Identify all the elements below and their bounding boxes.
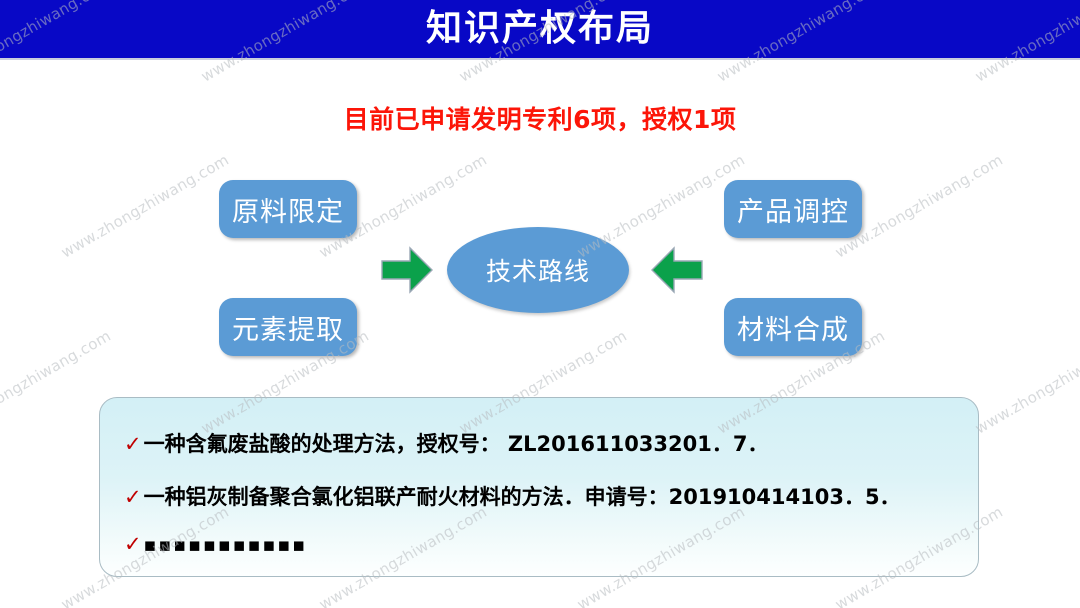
title-banner: 知识产权布局 — [0, 0, 1080, 58]
check-icon: ✓ — [124, 534, 142, 555]
patent-item-text: 一种铝灰制备聚合氯化铝联产耐火材料的方法．申请号：201910414103．5． — [144, 481, 901, 511]
slide-canvas: 知识产权布局 目前已申请发明专利6项，授权1项 原料限定 元素提取 产品调控 材… — [0, 0, 1080, 608]
check-icon: ✓ — [124, 487, 142, 508]
patent-item-text: ▪▪▪▪▪▪▪▪▪▪▪ — [144, 534, 308, 556]
node-raw-material-label: 原料限定 — [232, 190, 344, 229]
banner-underline — [0, 58, 1080, 60]
watermark-text: www.zhongzhiwang.com — [972, 327, 1080, 438]
node-product-control-label: 产品调控 — [737, 190, 849, 229]
arrow-left-icon — [650, 245, 704, 295]
node-technology-route-center[interactable]: 技术路线 — [447, 227, 629, 313]
patent-list-item: ✓ ▪▪▪▪▪▪▪▪▪▪▪ — [124, 534, 307, 556]
check-icon: ✓ — [124, 434, 142, 455]
node-technology-route-label: 技术路线 — [486, 252, 590, 288]
node-element-extract[interactable]: 元素提取 — [219, 298, 357, 356]
node-material-synthesis[interactable]: 材料合成 — [724, 298, 862, 356]
node-product-control[interactable]: 产品调控 — [724, 180, 862, 238]
watermark-text: www.zhongzhiwang.com — [0, 327, 114, 438]
page-title: 知识产权布局 — [0, 3, 1080, 55]
patent-list-panel: ✓ 一种含氟废盐酸的处理方法，授权号： ZL201611033201．7． ✓ … — [99, 397, 979, 577]
node-raw-material[interactable]: 原料限定 — [219, 180, 357, 238]
patent-item-text: 一种含氟废盐酸的处理方法，授权号： ZL201611033201．7． — [144, 428, 769, 458]
patent-list-item: ✓ 一种铝灰制备聚合氯化铝联产耐火材料的方法．申请号：201910414103．… — [124, 481, 901, 511]
patent-list-item: ✓ 一种含氟废盐酸的处理方法，授权号： ZL201611033201．7． — [124, 428, 768, 458]
node-element-extract-label: 元素提取 — [232, 308, 344, 347]
arrow-right-icon — [380, 245, 434, 295]
node-material-synthesis-label: 材料合成 — [737, 308, 849, 347]
subtitle-text: 目前已申请发明专利6项，授权1项 — [0, 100, 1080, 136]
watermark-text: www.zhongzhiwang.com — [58, 151, 232, 262]
